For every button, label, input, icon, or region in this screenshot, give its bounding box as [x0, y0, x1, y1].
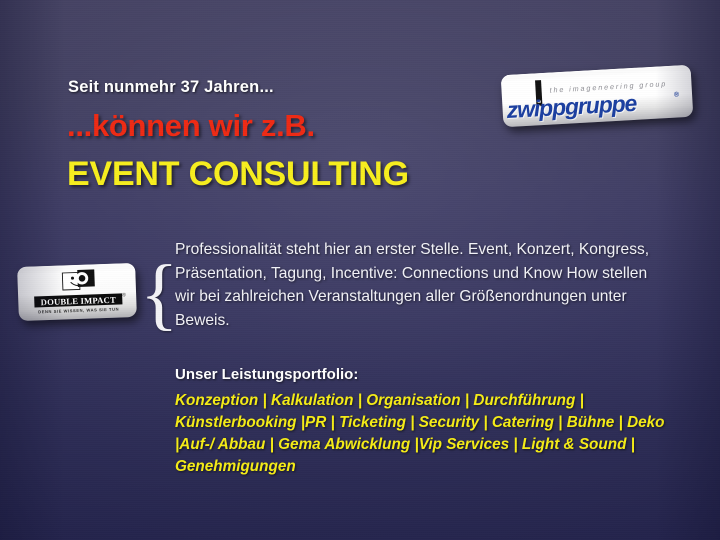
zwippgruppe-logo: the imageneering group zwippgruppe ® — [501, 65, 694, 128]
curly-brace-icon: { — [140, 255, 166, 333]
slide-kicker-text: Seit nunmehr 37 Jahren... — [68, 78, 274, 97]
portfolio-services-list: Konzeption | Kalkulation | Organisation … — [175, 390, 685, 478]
slide-body-paragraph: Professionalität steht hier an erster St… — [175, 238, 650, 332]
double-impact-registered-mark: ® — [122, 292, 126, 298]
zwippgruppe-wordmark: zwippgruppe — [506, 90, 637, 124]
presentation-slide: Seit nunmehr 37 Jahren... ...können wir … — [0, 0, 720, 540]
slide-red-headline: ...können wir z.B. — [67, 108, 315, 144]
zwippgruppe-registered-mark: ® — [674, 91, 680, 98]
portfolio-title: Unser Leistungsportfolio: — [175, 366, 358, 383]
double-impact-logo: DOUBLE IMPACT ® DENN SIE WISSEN, WAS SIE… — [17, 263, 137, 321]
double-impact-name: DOUBLE IMPACT — [35, 294, 121, 307]
slide-main-headline: EVENT CONSULTING — [67, 155, 409, 194]
double-impact-face-icon — [61, 268, 96, 293]
double-impact-tagline: DENN SIE WISSEN, WAS SIE TUN — [35, 306, 123, 314]
